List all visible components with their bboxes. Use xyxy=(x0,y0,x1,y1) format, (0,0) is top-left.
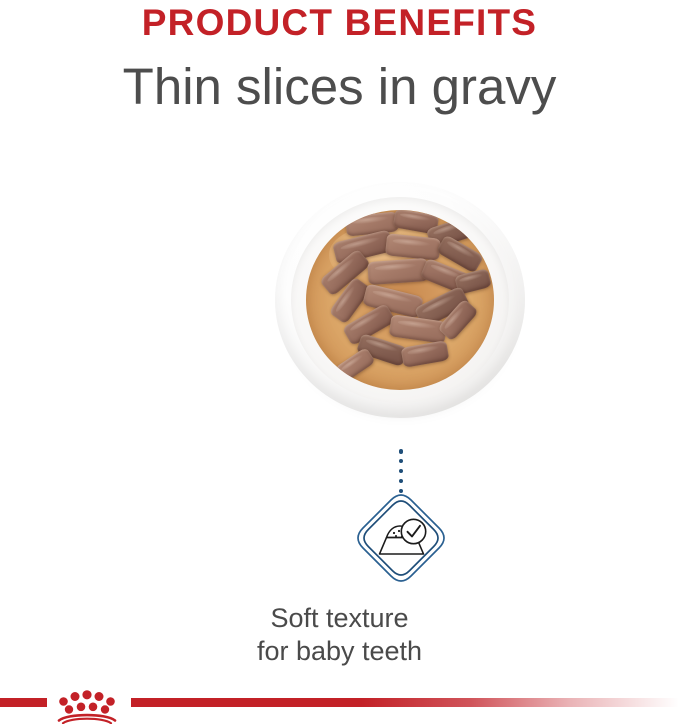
kibble-dot xyxy=(395,535,397,537)
benefit-caption: Soft texture for baby teeth xyxy=(0,602,679,668)
connector-dot xyxy=(399,459,404,464)
kibble-dot xyxy=(393,532,395,534)
food-bowl-check-icon xyxy=(355,492,447,584)
page-title: Thin slices in gravy xyxy=(0,59,679,114)
crown-icon xyxy=(48,690,126,724)
kibble-dot xyxy=(398,530,400,532)
product-benefits-page: PRODUCT BENEFITS Thin slices in gravy xyxy=(0,0,679,727)
connector-dot xyxy=(399,479,404,484)
bowl-dish xyxy=(275,182,525,418)
royal-canin-crown-logo xyxy=(48,690,126,724)
caption-line-1: Soft texture xyxy=(0,602,679,635)
footer-bar-right xyxy=(131,698,679,707)
footer-brand-bar xyxy=(0,690,679,727)
eyebrow-product-benefits: PRODUCT BENEFITS xyxy=(0,4,679,43)
dotted-connector xyxy=(397,449,405,493)
caption-line-2: for baby teeth xyxy=(0,635,679,668)
connector-dot xyxy=(399,469,404,474)
meat-slice xyxy=(334,347,376,383)
crown-arc-inner xyxy=(63,719,111,724)
footer-bar-left xyxy=(0,698,47,707)
hero-bowl-image xyxy=(275,182,525,418)
benefit-badge xyxy=(355,492,447,584)
header: PRODUCT BENEFITS Thin slices in gravy xyxy=(0,0,679,114)
check-circle xyxy=(401,519,425,543)
connector-dot xyxy=(399,449,404,454)
meat-slice xyxy=(367,258,428,285)
gravy-pool xyxy=(306,210,494,390)
meat-slice xyxy=(401,340,450,368)
